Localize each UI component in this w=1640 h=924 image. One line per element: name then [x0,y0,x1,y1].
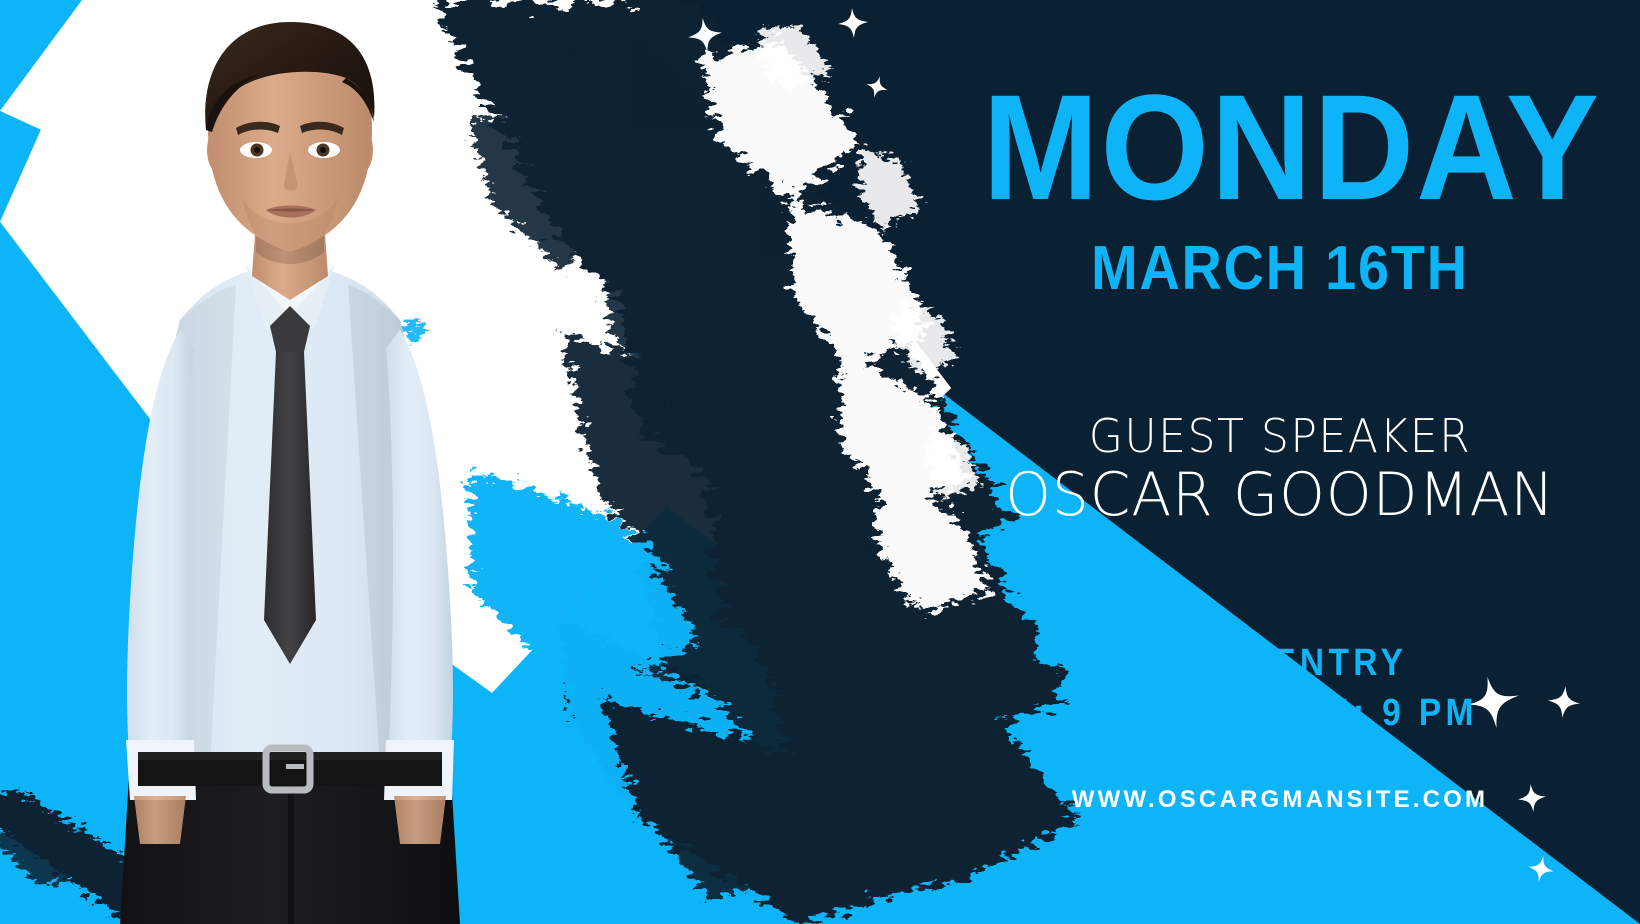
guest-speaker-name: OSCAR GOODMAN [970,464,1591,527]
poster-text-column: MONDAY MARCH 16TH GUEST SPEAKER OSCAR GO… [920,0,1640,924]
guest-speaker-block: GUEST SPEAKER OSCAR GOODMAN [960,412,1600,527]
event-poster: MONDAY MARCH 16TH GUEST SPEAKER OSCAR GO… [0,0,1640,924]
event-date-heading: MARCH 16TH [992,238,1568,300]
event-day-heading: MONDAY [982,78,1577,216]
entry-info-block: FREE ENTRY DOORS OPEN: 9 PM [960,639,1600,738]
doors-open-text: DOORS OPEN: 9 PM [998,689,1561,738]
guest-speaker-label: GUEST SPEAKER [973,412,1587,460]
website-url[interactable]: WWW.OSCARGMANSITE.COM [960,786,1600,814]
free-entry-text: FREE ENTRY [998,639,1561,688]
guest-speaker-photo [60,0,520,924]
